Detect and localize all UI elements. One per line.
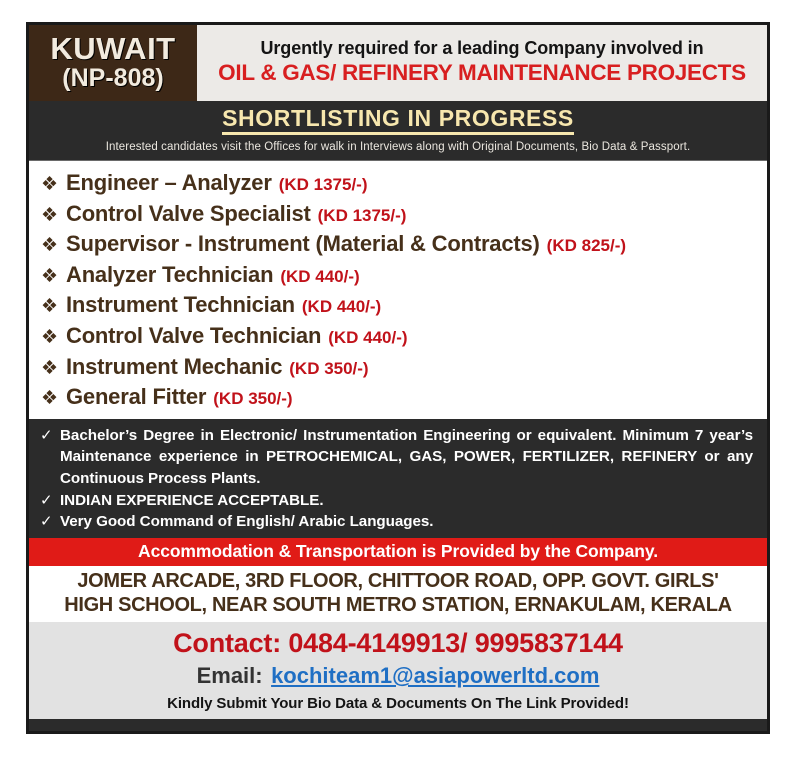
country-reference-box: KUWAIT (NP-808) [29, 25, 197, 101]
requirement-item: ✓ Very Good Command of English/ Arabic L… [29, 511, 767, 533]
job-salary: (KD 825/-) [547, 235, 626, 257]
checkmark-icon: ✓ [40, 425, 60, 446]
submission-note: Kindly Submit Your Bio Data & Documents … [33, 695, 763, 713]
diamond-bullet-icon: ❖ [41, 267, 66, 286]
urgency-headline: Urgently required for a leading Company … [261, 38, 704, 59]
job-list-item: ❖ Control Valve Specialist (KD 1375/-) [29, 199, 767, 230]
job-positions-list: ❖ Engineer – Analyzer (KD 1375/-) ❖ Cont… [29, 160, 767, 419]
job-title: Analyzer Technician [66, 261, 273, 290]
walk-in-instructions: Interested candidates visit the Offices … [29, 137, 767, 160]
job-salary: (KD 440/-) [280, 266, 359, 288]
diamond-bullet-icon: ❖ [41, 297, 66, 316]
job-salary: (KD 440/-) [302, 296, 381, 318]
job-list-item: ❖ General Fitter (KD 350/-) [29, 382, 767, 413]
job-list-item: ❖ Control Valve Technician (KD 440/-) [29, 321, 767, 352]
diamond-bullet-icon: ❖ [41, 389, 66, 408]
header-headline-block: Urgently required for a leading Company … [197, 25, 767, 101]
job-salary: (KD 1375/-) [279, 174, 368, 196]
diamond-bullet-icon: ❖ [41, 236, 66, 255]
requirement-text: Very Good Command of English/ Arabic Lan… [60, 511, 433, 533]
job-title: Instrument Mechanic [66, 353, 282, 382]
requirement-text: Bachelor’s Degree in Electronic/ Instrum… [60, 425, 753, 490]
address-line-2: HIGH SCHOOL, NEAR SOUTH METRO STATION, E… [33, 593, 763, 617]
diamond-bullet-icon: ❖ [41, 359, 66, 378]
job-title: Engineer – Analyzer [66, 169, 272, 198]
job-title: Supervisor - Instrument (Material & Cont… [66, 230, 540, 259]
job-list-item: ❖ Instrument Mechanic (KD 350/-) [29, 352, 767, 383]
job-list-item: ❖ Supervisor - Instrument (Material & Co… [29, 229, 767, 260]
diamond-bullet-icon: ❖ [41, 206, 66, 225]
job-title: General Fitter [66, 383, 206, 412]
requirement-item: ✓ INDIAN EXPERIENCE ACCEPTABLE. [29, 490, 767, 512]
job-salary: (KD 350/-) [289, 358, 368, 380]
poster-header: KUWAIT (NP-808) Urgently required for a … [29, 25, 767, 101]
job-title: Control Valve Technician [66, 322, 321, 351]
contact-email-row: Email: kochiteam1@asiapowerltd.com [33, 663, 763, 689]
email-address-link[interactable]: kochiteam1@asiapowerltd.com [271, 663, 599, 688]
accommodation-banner: Accommodation & Transportation is Provid… [29, 538, 767, 566]
sector-headline: OIL & GAS/ REFINERY MAINTENANCE PROJECTS [218, 60, 746, 86]
shortlisting-banner: SHORTLISTING IN PROGRESS [29, 101, 767, 137]
diamond-bullet-icon: ❖ [41, 328, 66, 347]
country-name: KUWAIT [50, 33, 175, 65]
job-salary: (KD 1375/-) [318, 205, 407, 227]
requirement-item: ✓ Bachelor’s Degree in Electronic/ Instr… [29, 425, 767, 490]
checkmark-icon: ✓ [40, 511, 60, 532]
shortlisting-title: SHORTLISTING IN PROGRESS [222, 106, 574, 135]
job-title: Control Valve Specialist [66, 200, 311, 229]
job-title: Instrument Technician [66, 291, 295, 320]
requirements-list: ✓ Bachelor’s Degree in Electronic/ Instr… [29, 419, 767, 538]
address-line-1: JOMER ARCADE, 3RD FLOOR, CHITTOOR ROAD, … [33, 569, 763, 593]
contact-section: Contact: 0484-4149913/ 9995837144 Email:… [29, 622, 767, 719]
job-salary: (KD 440/-) [328, 327, 407, 349]
job-list-item: ❖ Engineer – Analyzer (KD 1375/-) [29, 168, 767, 199]
accommodation-text: Accommodation & Transportation is Provid… [138, 541, 658, 561]
job-advertisement-poster: KUWAIT (NP-808) Urgently required for a … [26, 22, 770, 734]
diamond-bullet-icon: ❖ [41, 175, 66, 194]
office-address: JOMER ARCADE, 3RD FLOOR, CHITTOOR ROAD, … [29, 566, 767, 622]
email-label: Email: [197, 663, 263, 688]
contact-phone-numbers[interactable]: Contact: 0484-4149913/ 9995837144 [33, 628, 763, 660]
job-list-item: ❖ Instrument Technician (KD 440/-) [29, 290, 767, 321]
checkmark-icon: ✓ [40, 490, 60, 511]
job-salary: (KD 350/-) [213, 388, 292, 410]
requirement-text: INDIAN EXPERIENCE ACCEPTABLE. [60, 490, 324, 512]
job-reference-code: (NP-808) [62, 65, 163, 91]
job-list-item: ❖ Analyzer Technician (KD 440/-) [29, 260, 767, 291]
